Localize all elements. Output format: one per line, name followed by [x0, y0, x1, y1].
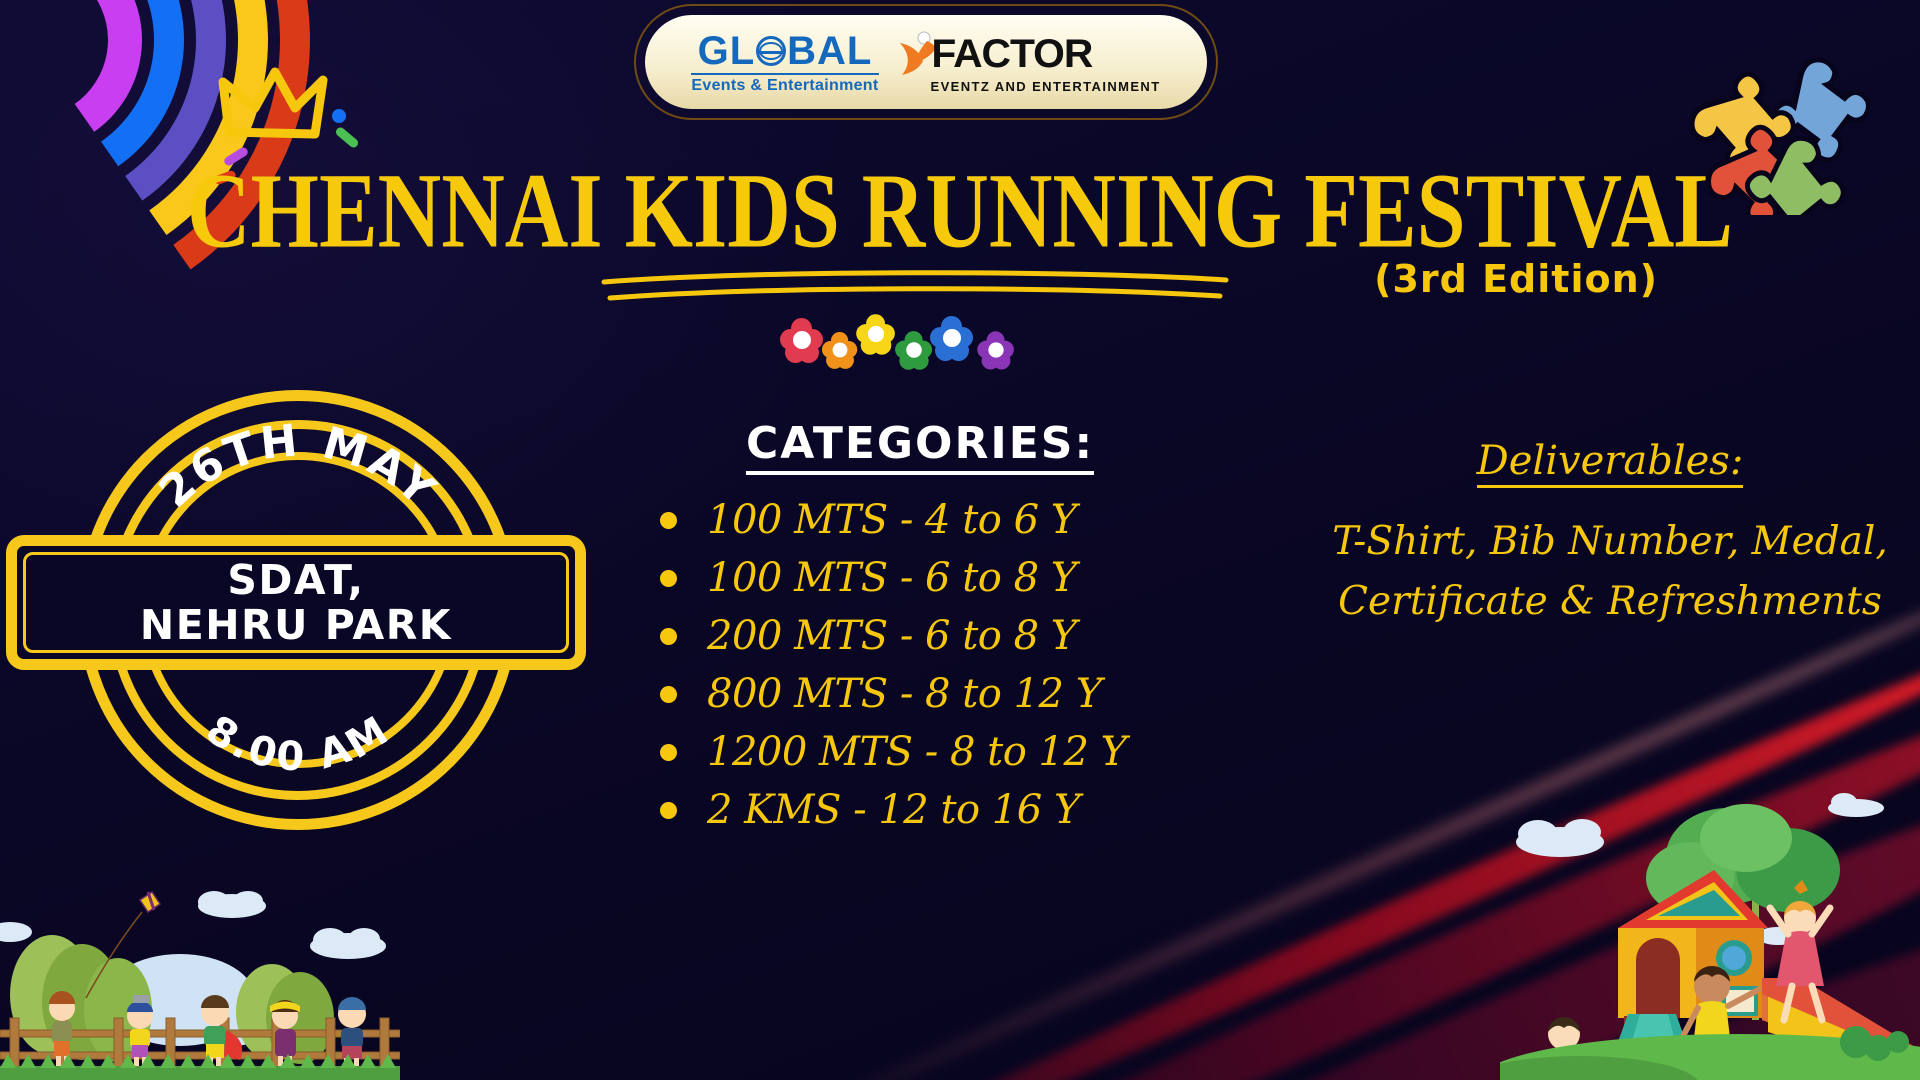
globe-icon: [756, 36, 786, 66]
venue-box: SDAT, NEHRU PARK: [6, 535, 586, 670]
categories-list: 100 MTS - 4 to 6 Y 100 MTS - 6 to 8 Y 20…: [660, 497, 1180, 833]
venue-line-2: NEHRU PARK: [140, 603, 452, 647]
crown-icon: [215, 60, 335, 150]
bullet-icon: [660, 744, 677, 761]
list-item: 200 MTS - 6 to 8 Y: [660, 613, 1180, 659]
category-label: 1200 MTS - 8 to 12 Y: [707, 729, 1127, 775]
bullet-icon: [660, 628, 677, 645]
global-word-left: GL: [698, 31, 756, 71]
svg-text:8.00 AM: 8.00 AM: [198, 707, 399, 781]
category-label: 200 MTS - 6 to 8 Y: [707, 613, 1077, 659]
list-item: 1200 MTS - 8 to 12 Y: [660, 729, 1180, 775]
xfactor-word: FACTOR: [931, 34, 1092, 74]
bullet-icon: [660, 686, 677, 703]
venue-line-1: SDAT,: [140, 558, 452, 602]
logo-divider: [691, 73, 878, 75]
date-venue-stamp: 26TH MAY 8.00 AM SDAT, NEHRU PARK: [78, 390, 518, 830]
xfactor-tagline: EVENTZ AND ENTERTAINMENT: [931, 80, 1161, 93]
deliverables-heading: Deliverables:: [1477, 438, 1744, 488]
global-events-logo: GL BAL Events & Entertainment: [691, 31, 878, 94]
event-poster: GL BAL Events & Entertainment: [0, 0, 1920, 1080]
deliverables-line-1: T-Shirt, Bib Number, Medal,: [1310, 512, 1910, 572]
sponsor-logo-banner: GL BAL Events & Entertainment: [636, 6, 1216, 118]
svg-text:26TH MAY: 26TH MAY: [150, 415, 447, 518]
kids-playground-slide-illustration: [1500, 750, 1920, 1080]
category-label: 100 MTS - 6 to 8 Y: [707, 555, 1077, 601]
flowers-row-icon: [780, 312, 1050, 362]
global-word-right: BAL: [787, 31, 872, 71]
kids-park-fence-illustration: [0, 890, 400, 1080]
deliverables-line-2: Certificate & Refreshments: [1310, 572, 1910, 632]
underline-swash-icon: [600, 268, 1230, 302]
categories-heading: CATEGORIES:: [746, 418, 1094, 475]
category-label: 800 MTS - 8 to 12 Y: [707, 671, 1102, 717]
category-label: 100 MTS - 4 to 6 Y: [707, 497, 1077, 543]
category-label: 2 KMS - 12 to 16 Y: [707, 787, 1080, 833]
bullet-icon: [660, 512, 677, 529]
list-item: 100 MTS - 4 to 6 Y: [660, 497, 1180, 543]
xfactor-eventz-logo: FACTOR EVENTZ AND ENTERTAINMENT: [897, 31, 1161, 93]
categories-section: CATEGORIES: 100 MTS - 4 to 6 Y 100 MTS -…: [660, 418, 1180, 845]
deliverables-section: Deliverables: T-Shirt, Bib Number, Medal…: [1310, 438, 1910, 633]
list-item: 800 MTS - 8 to 12 Y: [660, 671, 1180, 717]
global-tagline: Events & Entertainment: [691, 78, 878, 94]
list-item: 100 MTS - 6 to 8 Y: [660, 555, 1180, 601]
edition-label: (3rd Edition): [1374, 257, 1658, 301]
bullet-icon: [660, 802, 677, 819]
bullet-icon: [660, 570, 677, 587]
page-title: CHENNAI KIDS RUNNING FESTIVAL: [0, 150, 1920, 273]
list-item: 2 KMS - 12 to 16 Y: [660, 787, 1180, 833]
